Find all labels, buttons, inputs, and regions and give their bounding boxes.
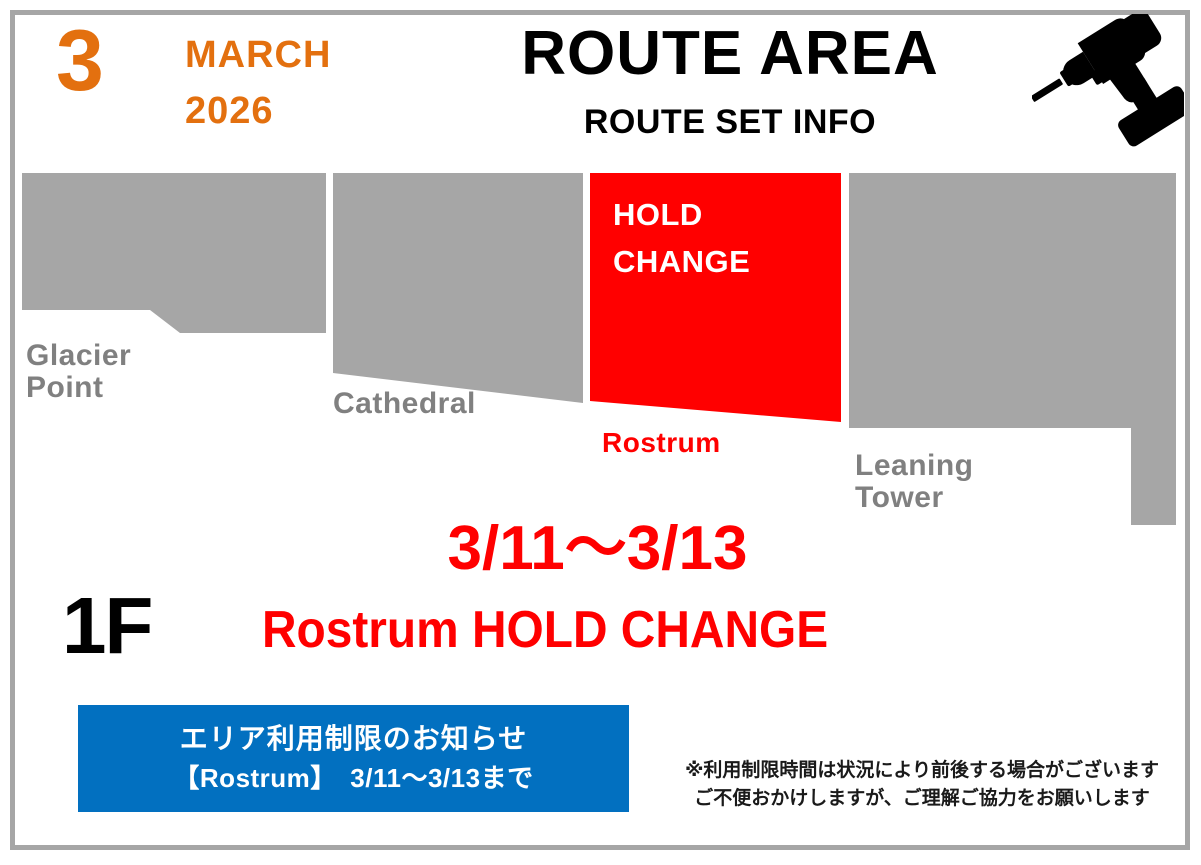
month-name: MARCH (185, 36, 331, 74)
area-label-leaning-tower-line2: Tower (855, 482, 974, 514)
area-label-leaning-tower-line1: Leaning (855, 450, 974, 482)
area-label-glacier-point-line1: Glacier (26, 340, 131, 372)
hold-change-line1: HOLD (613, 192, 843, 239)
area-restriction-notice: エリア利用制限のお知らせ 【Rostrum】 3/11〜3/13まで (78, 705, 629, 812)
year: 2026 (185, 92, 274, 130)
area-label-leaning-tower: Leaning Tower (855, 450, 974, 515)
date-range: 3/11〜3/13 (0, 518, 1201, 580)
disclaimer-line2: ご不便おかけしますが、ご理解ご協力をお願いします (672, 785, 1172, 813)
notice-title: エリア利用制限のお知らせ (78, 723, 629, 755)
area-label-rostrum: Rostrum (602, 428, 721, 458)
notice-detail: 【Rostrum】 3/11〜3/13まで (78, 763, 629, 794)
rostrum-hold-change-overlay: HOLD CHANGE (613, 192, 843, 285)
area-shape-glacier-point[interactable] (22, 173, 326, 333)
area-label-glacier-point: Glacier Point (26, 340, 131, 405)
disclaimer: ※利用制限時間は状況により前後する場合がございます ご不便おかけしますが、ご理解… (672, 757, 1172, 812)
route-area-map (0, 160, 1201, 540)
hold-change-line2: CHANGE (613, 239, 843, 286)
month-number: 3 (56, 18, 103, 104)
headline-message: Rostrum HOLD CHANGE (262, 604, 828, 656)
power-drill-icon (1032, 14, 1184, 162)
page-subtitle: ROUTE SET INFO (420, 105, 1040, 139)
disclaimer-line1: ※利用制限時間は状況により前後する場合がございます (672, 757, 1172, 785)
date-range-text: 3/11〜3/13 (448, 518, 748, 580)
page-title: ROUTE AREA (420, 23, 1040, 85)
floor-label: 1F (62, 586, 151, 666)
area-label-glacier-point-line2: Point (26, 372, 131, 404)
area-label-cathedral: Cathedral (333, 388, 476, 420)
area-shape-cathedral[interactable] (333, 173, 583, 403)
poster-root: 3 MARCH 2026 ROUTE AREA ROUTE SET INFO (0, 0, 1201, 865)
